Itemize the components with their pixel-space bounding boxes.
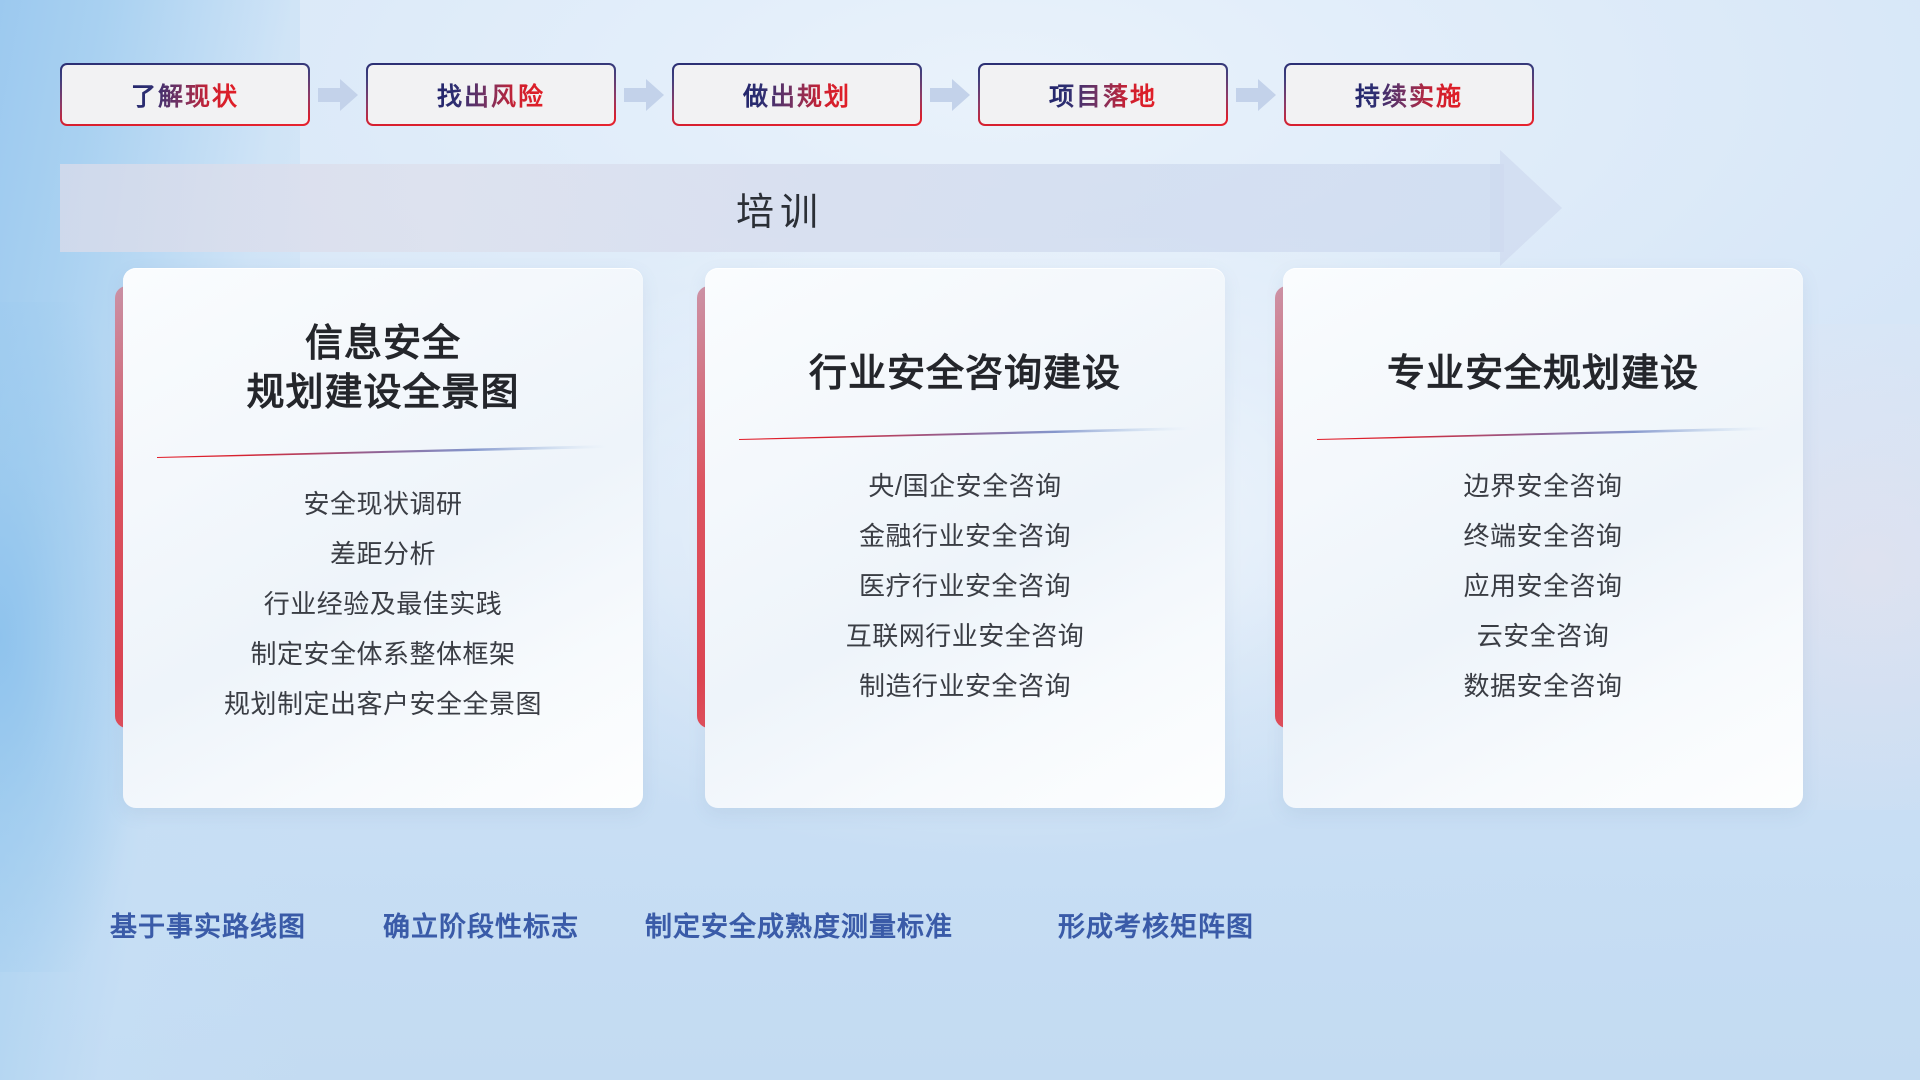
card-list-item: 云安全咨询 <box>1477 616 1610 653</box>
card-content: 专业安全规划建设边界安全咨询终端安全咨询应用安全咨询云安全咨询数据安全咨询 <box>1283 268 1803 808</box>
card-item-list: 央/国企安全咨询金融行业安全咨询医疗行业安全咨询互联网行业安全咨询制造行业安全咨… <box>739 466 1191 703</box>
card-list-item: 规划制定出客户安全全景图 <box>224 684 542 721</box>
card-title: 专业安全规划建设 <box>1387 350 1699 399</box>
card-list-item: 医疗行业安全咨询 <box>859 566 1071 603</box>
card-surface: 行业安全咨询建设央/国企安全咨询金融行业安全咨询医疗行业安全咨询互联网行业安全咨… <box>705 268 1225 808</box>
bottom-label-2: 确立阶段性标志 <box>383 905 579 944</box>
card-list-item: 安全现状调研 <box>303 484 462 521</box>
right-arrow-icon <box>922 75 978 115</box>
card-list-item: 制造行业安全咨询 <box>859 666 1071 703</box>
step-box-2[interactable]: 找出风险 <box>366 63 616 126</box>
step-label: 做出规划 <box>743 77 851 113</box>
step-box-5[interactable]: 持续实施 <box>1284 63 1534 126</box>
bottom-label-3: 制定安全成熟度测量标准 <box>645 905 953 944</box>
bottom-label-1: 基于事实路线图 <box>110 905 306 944</box>
step-box-3[interactable]: 做出规划 <box>672 63 922 126</box>
bottom-label-4: 形成考核矩阵图 <box>1058 905 1254 944</box>
right-arrow-icon <box>1228 75 1284 115</box>
card-list-item: 数据安全咨询 <box>1463 666 1622 703</box>
card-list-item: 金融行业安全咨询 <box>859 516 1071 553</box>
card-divider <box>157 445 609 458</box>
card-list-item: 应用安全咨询 <box>1463 566 1622 603</box>
card-list-item: 互联网行业安全咨询 <box>846 616 1085 653</box>
card-row: 信息安全 规划建设全景图安全现状调研差距分析行业经验及最佳实践制定安全体系整体框… <box>0 268 1920 728</box>
training-banner-arrowhead <box>1500 150 1562 266</box>
card-surface: 信息安全 规划建设全景图安全现状调研差距分析行业经验及最佳实践制定安全体系整体框… <box>123 268 643 808</box>
card-divider <box>739 427 1191 440</box>
service-card-2[interactable]: 行业安全咨询建设央/国企安全咨询金融行业安全咨询医疗行业安全咨询互联网行业安全咨… <box>697 268 1225 728</box>
card-content: 行业安全咨询建设央/国企安全咨询金融行业安全咨询医疗行业安全咨询互联网行业安全咨… <box>705 268 1225 808</box>
card-list-item: 差距分析 <box>330 534 436 571</box>
card-content: 信息安全 规划建设全景图安全现状调研差距分析行业经验及最佳实践制定安全体系整体框… <box>123 268 643 808</box>
service-card-3[interactable]: 专业安全规划建设边界安全咨询终端安全咨询应用安全咨询云安全咨询数据安全咨询 <box>1275 268 1803 728</box>
step-label: 找出风险 <box>437 77 545 113</box>
right-arrow-icon <box>616 75 672 115</box>
card-list-item: 行业经验及最佳实践 <box>264 584 503 621</box>
card-item-list: 安全现状调研差距分析行业经验及最佳实践制定安全体系整体框架规划制定出客户安全全景… <box>157 484 609 721</box>
step-box-1[interactable]: 了解现状 <box>60 63 310 126</box>
step-box-4[interactable]: 项目落地 <box>978 63 1228 126</box>
card-list-item: 边界安全咨询 <box>1463 466 1622 503</box>
card-list-item: 终端安全咨询 <box>1463 516 1622 553</box>
step-label: 持续实施 <box>1355 77 1463 113</box>
training-banner-label: 培训 <box>60 164 1500 252</box>
bottom-label-row: 基于事实路线图确立阶段性标志制定安全成熟度测量标准形成考核矩阵图 <box>0 905 1920 965</box>
card-surface: 专业安全规划建设边界安全咨询终端安全咨询应用安全咨询云安全咨询数据安全咨询 <box>1283 268 1803 808</box>
card-title: 行业安全咨询建设 <box>809 350 1121 399</box>
step-label: 项目落地 <box>1049 77 1157 113</box>
card-title: 信息安全 规划建设全景图 <box>246 320 519 417</box>
process-step-row: 了解现状找出风险做出规划项目落地持续实施 <box>60 62 1860 127</box>
step-label: 了解现状 <box>131 77 239 113</box>
card-list-item: 央/国企安全咨询 <box>868 466 1061 503</box>
card-divider <box>1317 427 1769 440</box>
service-card-1[interactable]: 信息安全 规划建设全景图安全现状调研差距分析行业经验及最佳实践制定安全体系整体框… <box>115 268 643 728</box>
card-item-list: 边界安全咨询终端安全咨询应用安全咨询云安全咨询数据安全咨询 <box>1317 466 1769 703</box>
right-arrow-icon <box>310 75 366 115</box>
card-list-item: 制定安全体系整体框架 <box>250 634 515 671</box>
